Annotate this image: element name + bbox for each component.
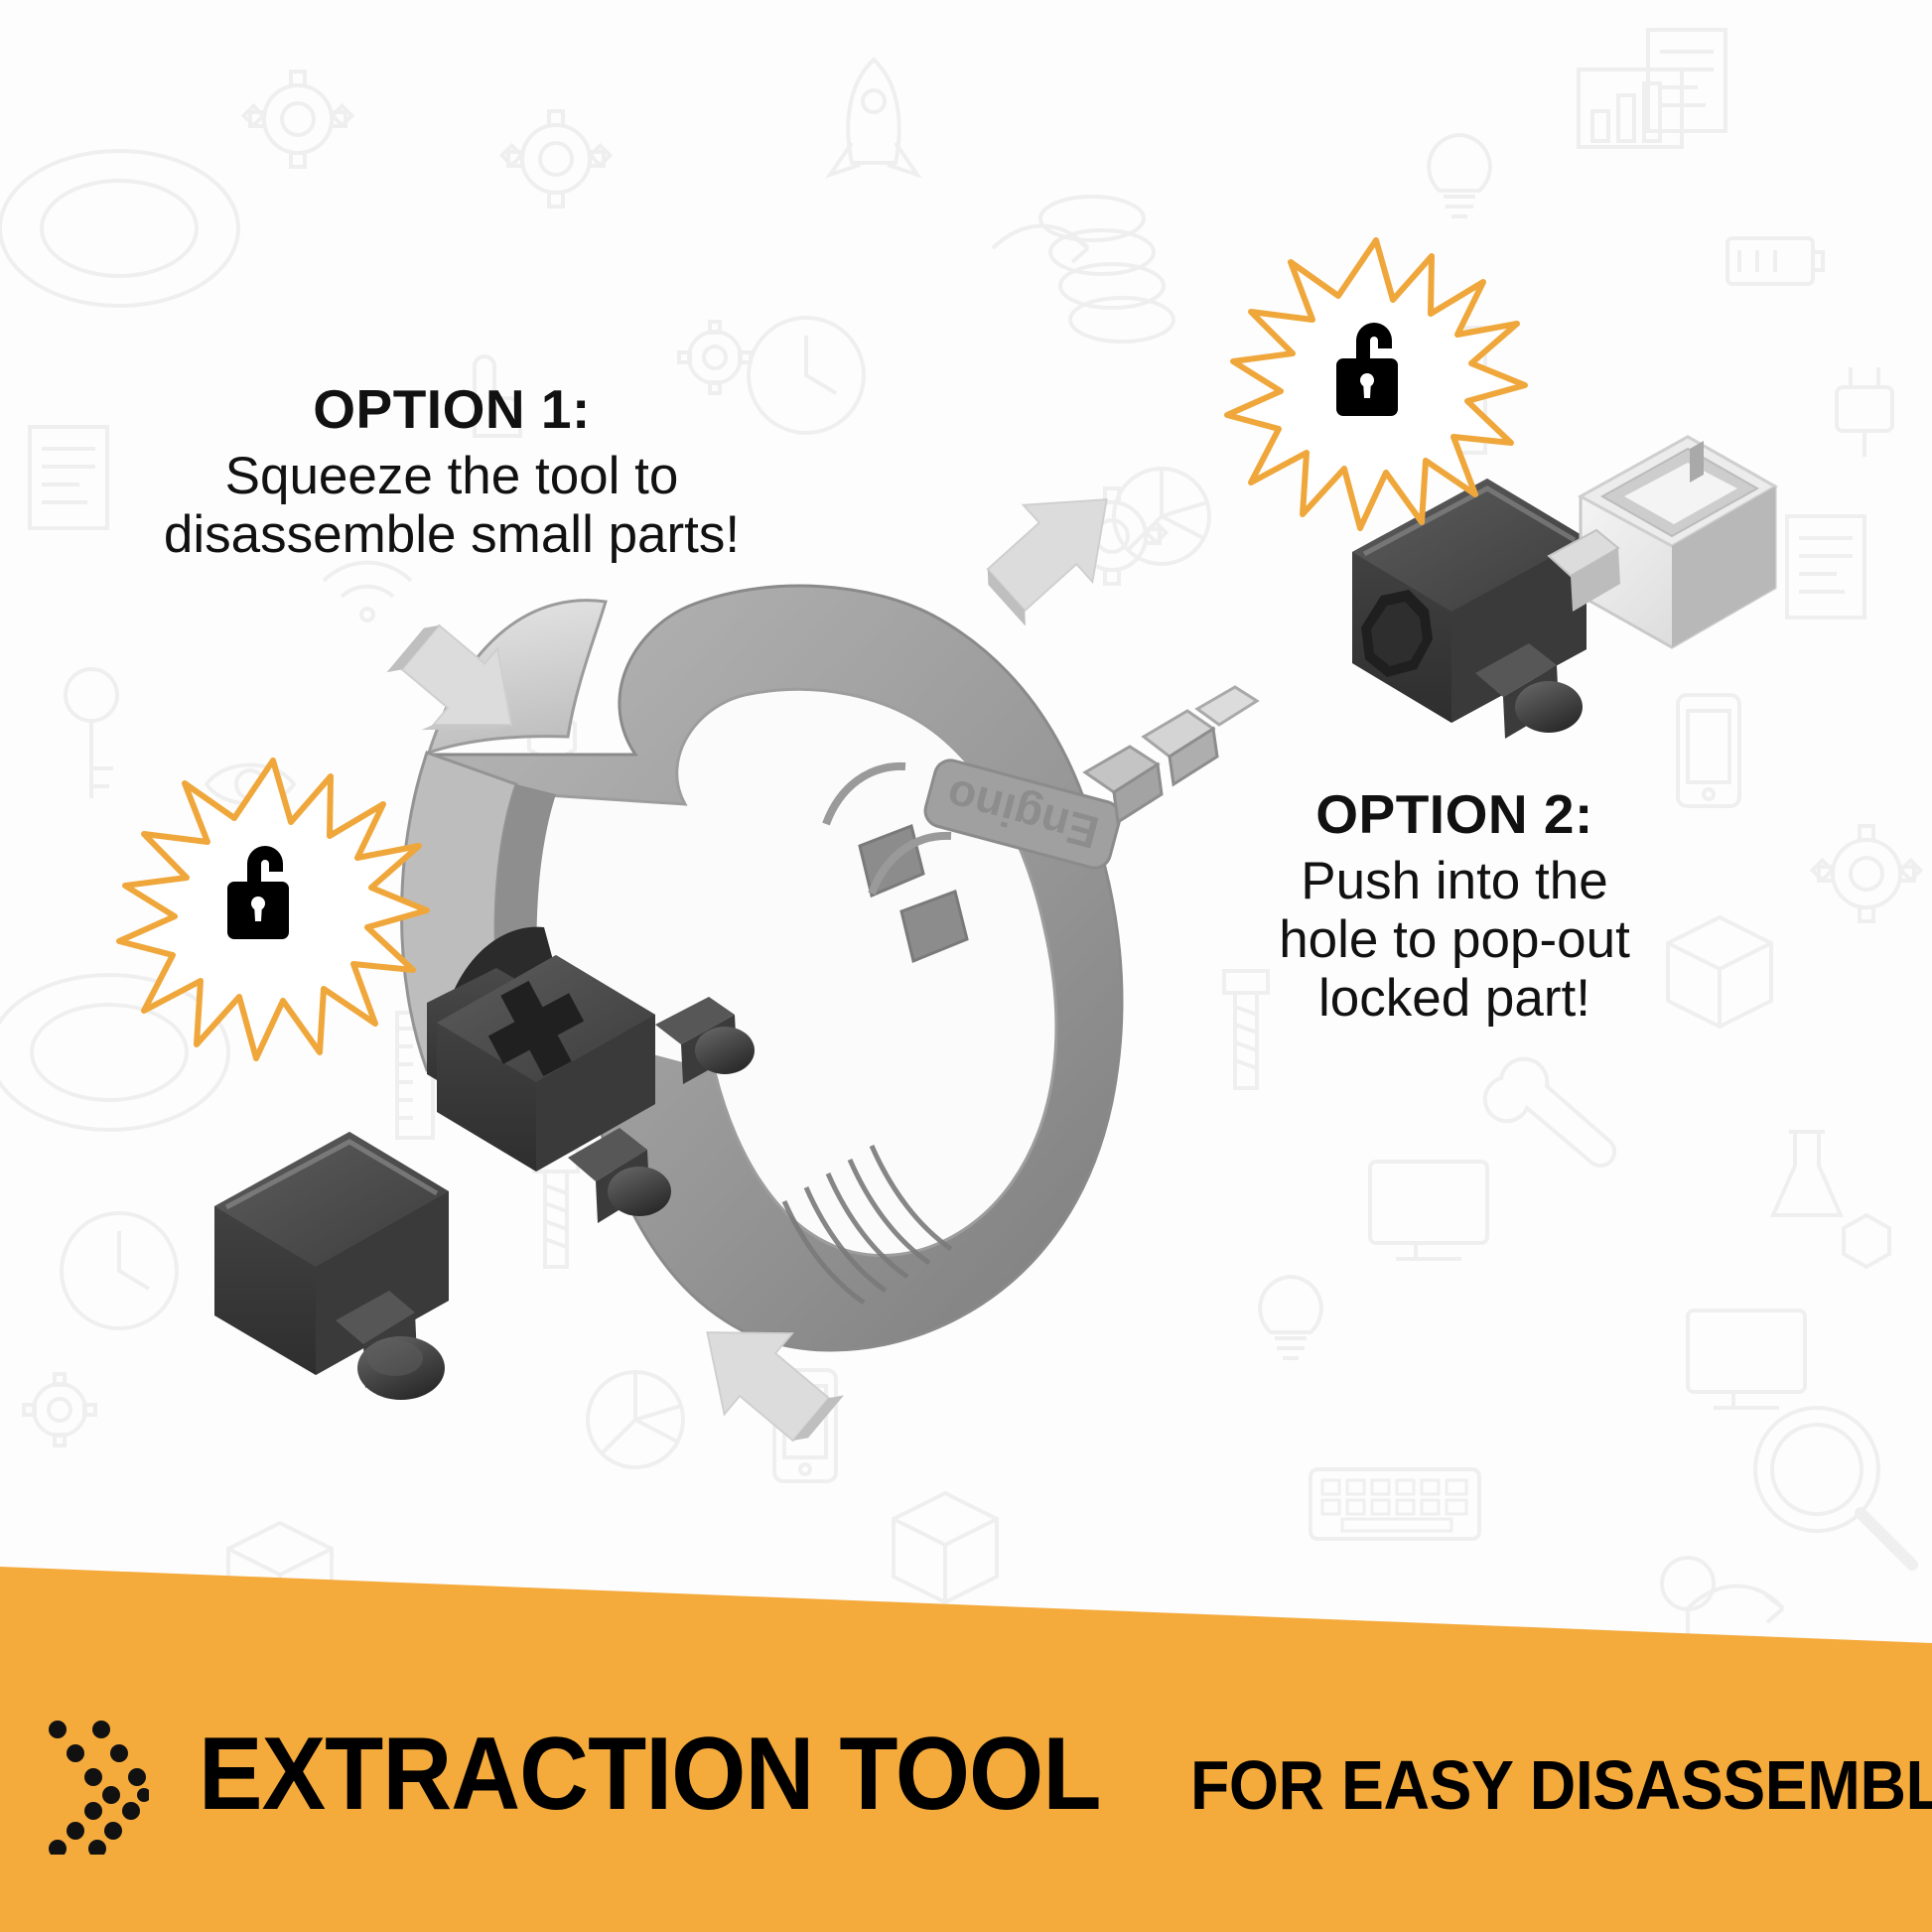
unlocked-padlock-icon	[1223, 220, 1521, 518]
arrow-right-icon	[978, 486, 1162, 650]
callout-option-2: OPTION 2: Push into the hole to pop-out …	[1077, 784, 1832, 1029]
option-2-heading: OPTION 2:	[1077, 784, 1832, 846]
unlocked-padlock-icon	[109, 739, 417, 1046]
callout-option-1: OPTION 1: Squeeze the tool to disassembl…	[94, 379, 809, 564]
dot-chevron-logo-icon	[40, 1716, 149, 1855]
banner-title-sub: FOR EASY DISASSEMBLY	[1190, 1745, 1932, 1825]
option-2-line-2: hole to pop-out	[1077, 910, 1832, 969]
infographic-canvas: Engino	[0, 0, 1932, 1932]
status-badge-unlock-right	[1227, 234, 1525, 532]
banner-title-main: EXTRACTION TOOL	[199, 1716, 1100, 1834]
option-1-line-1: Squeeze the tool to	[94, 447, 809, 505]
option-1-heading: OPTION 1:	[94, 379, 809, 441]
arrow-bottom-left-icon	[685, 1271, 884, 1445]
bottom-banner: EXTRACTION TOOL FOR EASY DISASSEMBLY	[0, 1549, 1932, 1932]
banner-title-group: EXTRACTION TOOL FOR EASY DISASSEMBLY	[199, 1716, 1932, 1834]
option-1-line-2: disassemble small parts!	[94, 505, 809, 564]
option-2-line-1: Push into the	[1077, 852, 1832, 910]
option-2-line-3: locked part!	[1077, 969, 1832, 1028]
status-badge-unlock-left	[119, 755, 427, 1062]
